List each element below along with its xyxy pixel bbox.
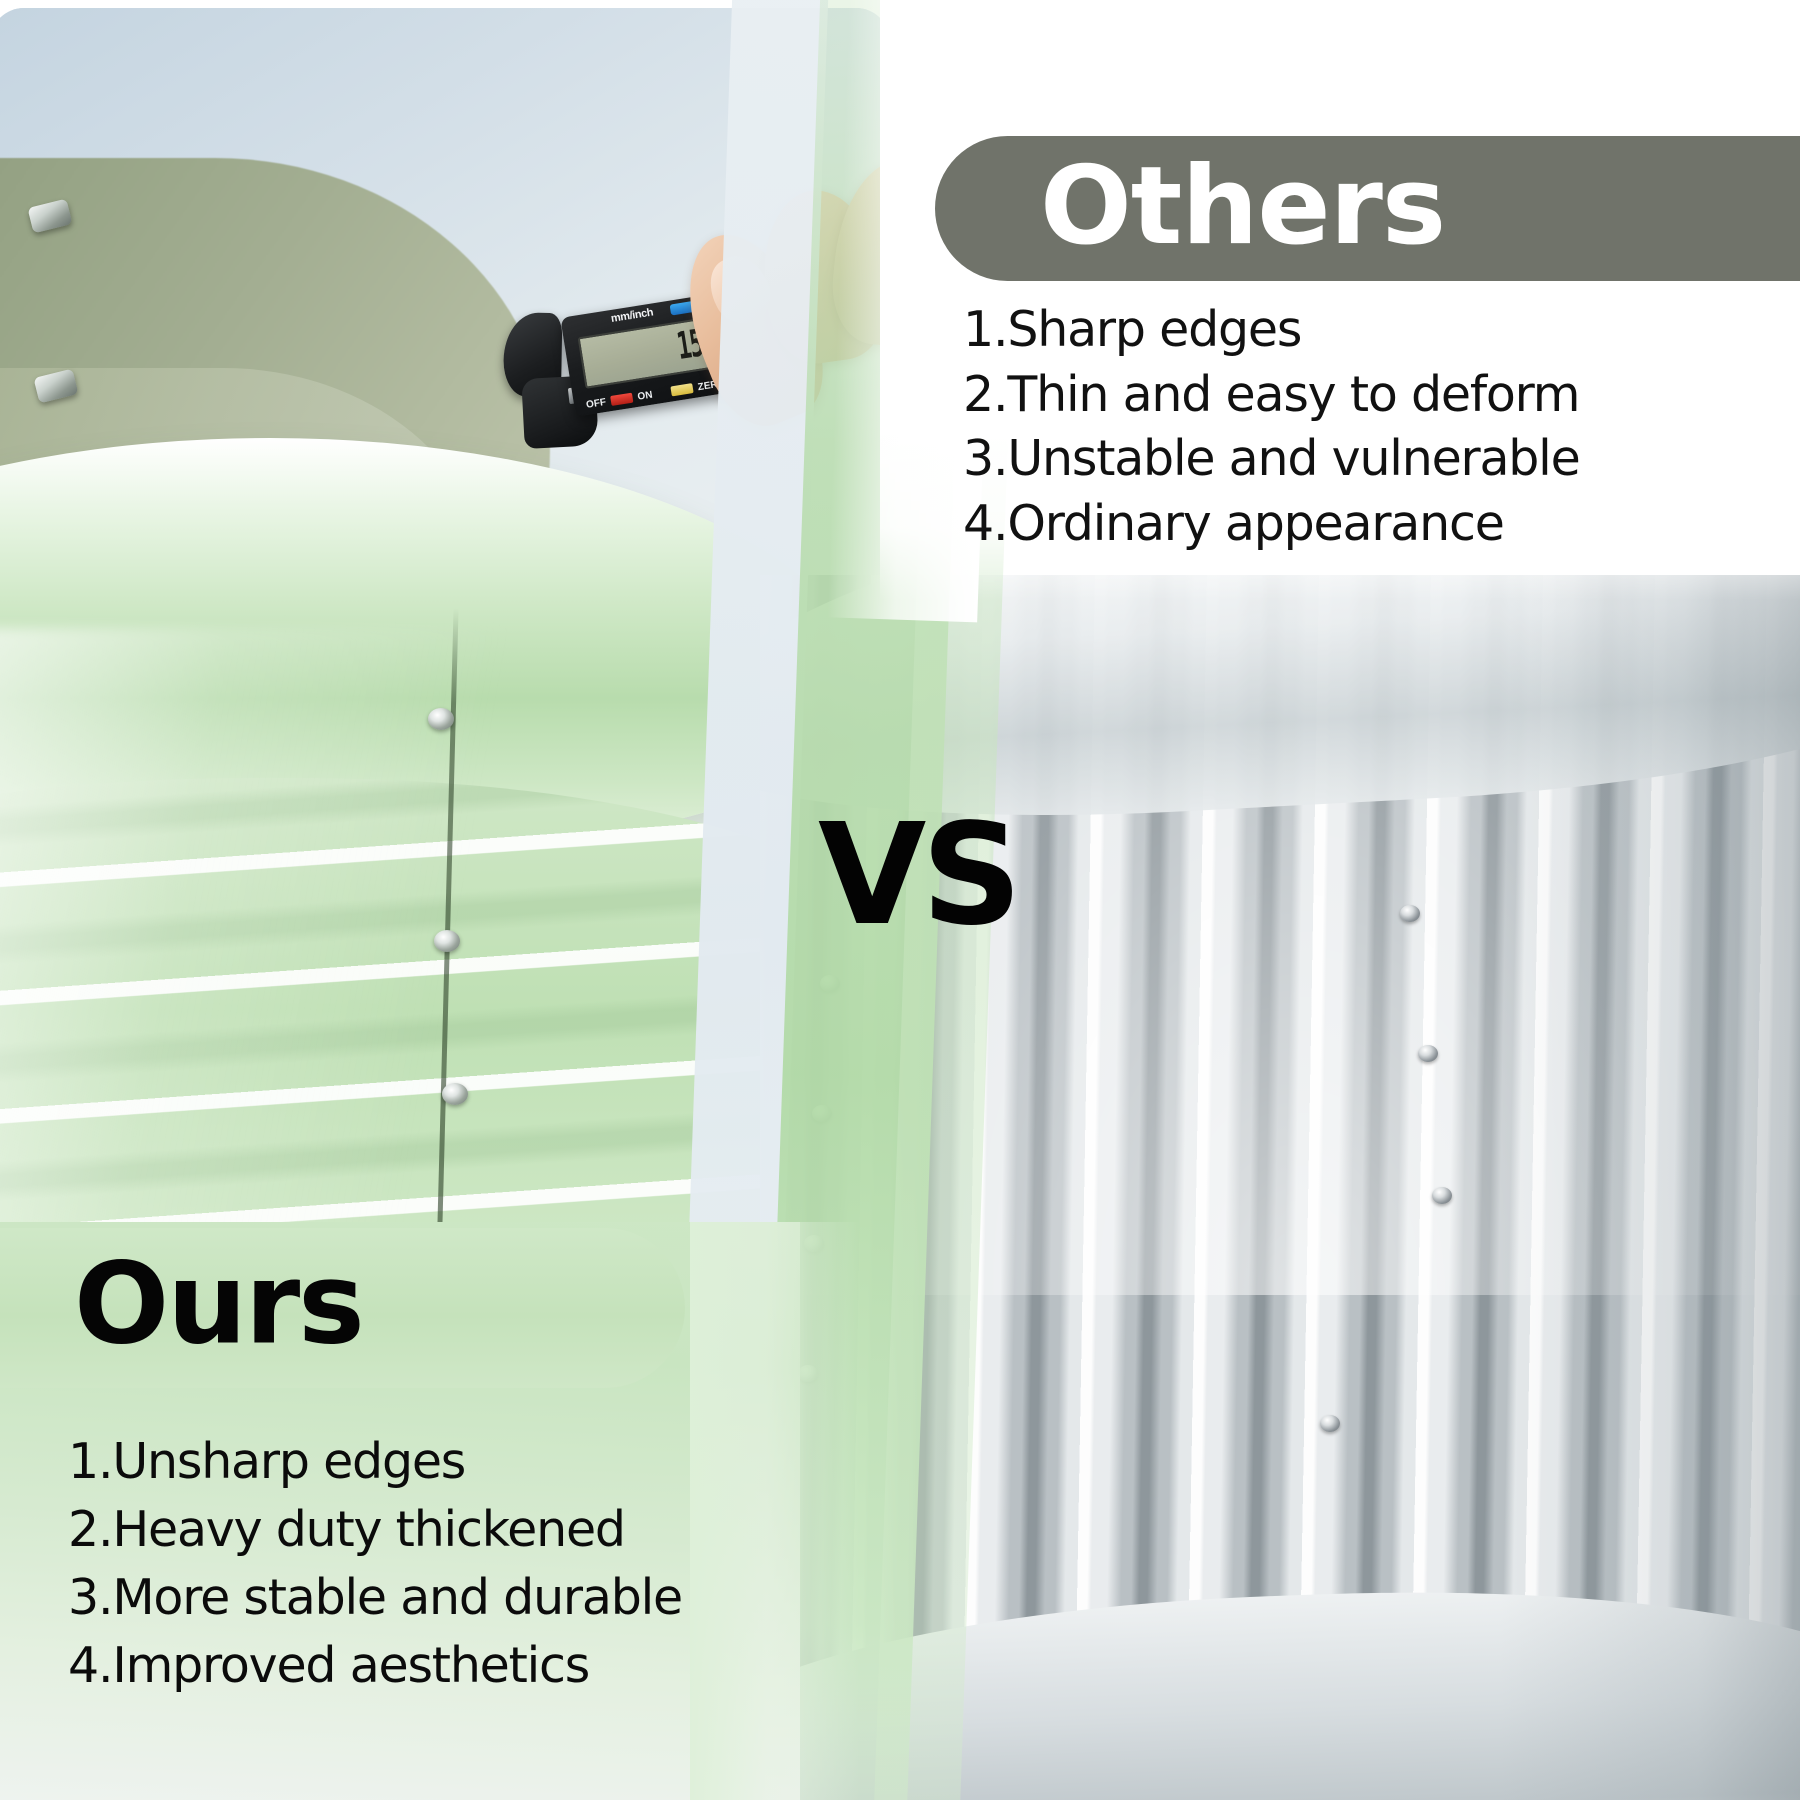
list-item: 1.Sharp edges — [963, 298, 1800, 363]
list-item: 2.Heavy duty thickened — [68, 1496, 808, 1564]
caliper-off-button — [610, 393, 633, 406]
others-feature-list: 1.Sharp edges 2.Thin and easy to deform … — [963, 298, 1800, 557]
bed-rivet — [434, 930, 460, 952]
vs-label: VS — [818, 806, 1017, 946]
caliper-off-label: OFF — [585, 396, 606, 410]
list-item: 3.Unstable and vulnerable — [963, 427, 1800, 492]
panel-rivet — [1320, 1415, 1340, 1432]
panel-rivet — [1432, 1187, 1452, 1204]
caliper-on-label: ON — [637, 389, 654, 402]
list-item: 4.Ordinary appearance — [963, 492, 1800, 557]
bed-rivet — [442, 1083, 468, 1105]
ours-badge: Ours — [0, 1228, 685, 1388]
list-item: 4.Improved aesthetics — [68, 1632, 808, 1700]
ours-badge-label: Ours — [74, 1249, 363, 1361]
others-badge-label: Others — [1040, 152, 1445, 260]
others-badge: Others — [935, 136, 1800, 281]
list-item: 2.Thin and easy to deform — [963, 363, 1800, 428]
panel-rivet — [1400, 905, 1420, 922]
ours-feature-list: 1.Unsharp edges 2.Heavy duty thickened 3… — [68, 1428, 808, 1700]
panel-rivet — [1418, 1045, 1438, 1062]
bed-rivet — [428, 708, 454, 730]
list-item: 1.Unsharp edges — [68, 1428, 808, 1496]
galvanized-shadow — [1500, 575, 1800, 1800]
list-item: 3.More stable and durable — [68, 1564, 808, 1632]
comparison-infographic: mm/inch 15 OFF ON ZERO — [0, 0, 1800, 1800]
